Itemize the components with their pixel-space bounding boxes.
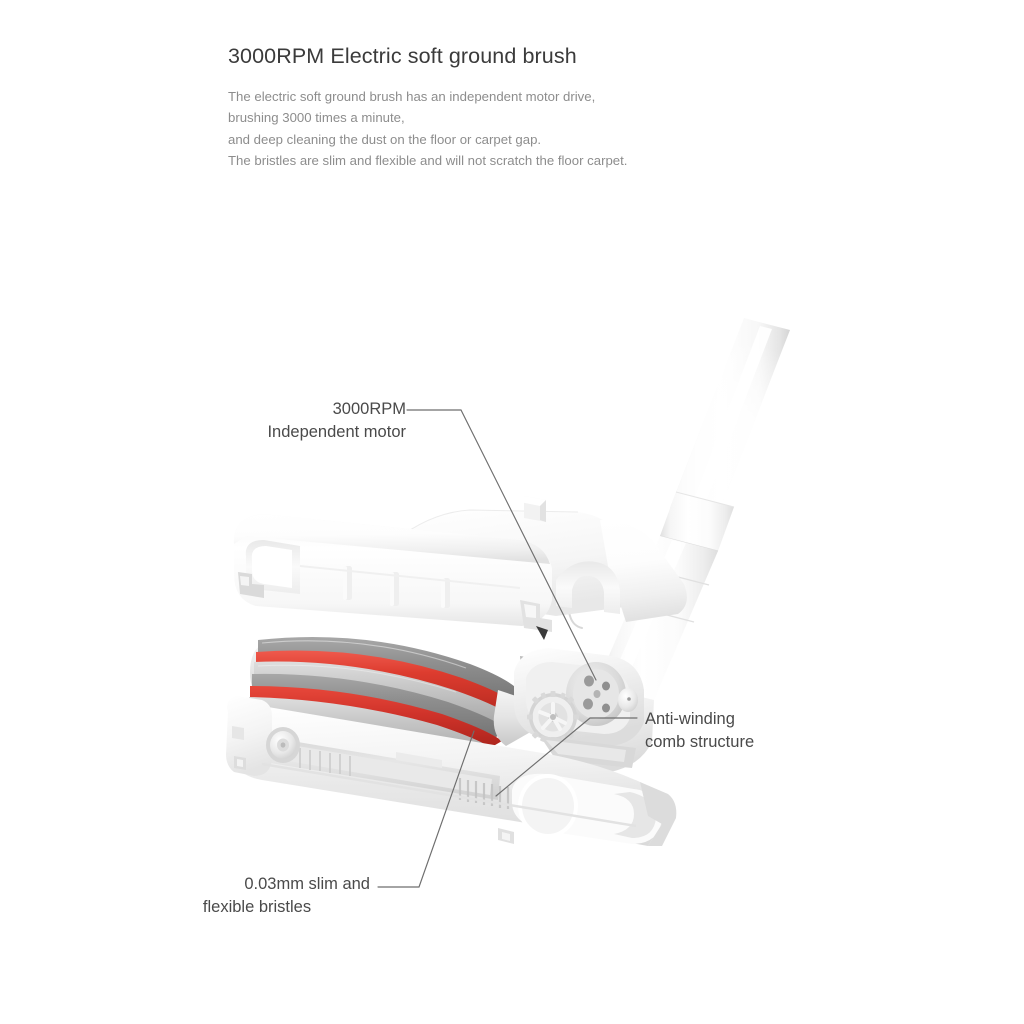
description-line-4: The bristles are slim and flexible and w… — [228, 150, 968, 172]
page-title: 3000RPM Electric soft ground brush — [228, 44, 968, 70]
callout-comb: Anti-winding comb structure — [645, 708, 754, 754]
page-description: The electric soft ground brush has an in… — [228, 86, 968, 172]
description-line-3: and deep cleaning the dust on the floor … — [228, 129, 968, 151]
callout-motor: 3000RPM Independent motor — [158, 398, 406, 444]
callout-motor-line-2: Independent motor — [158, 421, 406, 444]
header-block: 3000RPM Electric soft ground brush The e… — [228, 44, 968, 172]
description-line-1: The electric soft ground brush has an in… — [228, 86, 968, 108]
callout-bristles-line-2: flexible bristles — [118, 896, 370, 919]
swivel-joint — [555, 596, 654, 772]
callout-motor-line-1: 3000RPM — [158, 398, 406, 421]
leader-line-motor — [407, 410, 596, 680]
callout-bristles-line-1: 0.03mm slim and — [118, 873, 370, 896]
drive-gear-icon — [527, 691, 579, 743]
callout-bristles: 0.03mm slim and flexible bristles — [118, 873, 370, 919]
brush-roller-bristles — [249, 637, 536, 757]
telescoping-wand-tube — [596, 318, 790, 700]
bottom-chassis — [226, 696, 676, 846]
leader-lines — [378, 410, 637, 887]
description-line-2: brushing 3000 times a minute, — [228, 107, 968, 129]
leader-line-comb — [496, 718, 637, 796]
motor-gear-assembly — [514, 648, 644, 768]
front-drum-roller — [512, 774, 662, 844]
product-feature-page: 3000RPM Electric soft ground brush The e… — [0, 0, 1024, 1024]
top-cover-shell — [234, 496, 687, 640]
leader-line-bristles — [378, 731, 474, 887]
callout-comb-line-1: Anti-winding — [645, 708, 754, 731]
callout-comb-line-2: comb structure — [645, 731, 754, 754]
front-roller-wheel — [266, 727, 300, 763]
